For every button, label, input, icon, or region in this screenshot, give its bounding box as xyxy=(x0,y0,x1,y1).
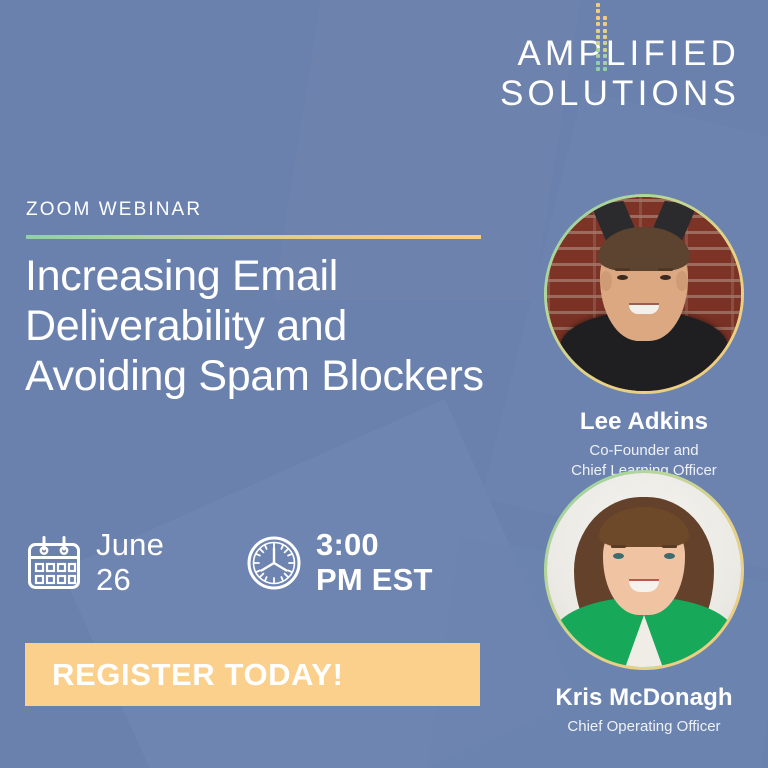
calendar-icon xyxy=(26,535,82,591)
event-time: 3:00 PM EST xyxy=(246,528,433,597)
event-time-zone: PM EST xyxy=(316,562,433,597)
logo-bars-icon xyxy=(596,17,618,71)
avatar-ring xyxy=(544,470,744,670)
avatar-ring xyxy=(544,194,744,394)
speaker-name: Kris McDonagh xyxy=(524,684,764,712)
logo-dot xyxy=(603,16,607,20)
logo-dot xyxy=(596,35,600,39)
logo-dot xyxy=(596,16,600,20)
event-date-month: June xyxy=(96,527,164,562)
avatar xyxy=(547,473,741,667)
logo-dot xyxy=(603,54,607,58)
page-title: Increasing Email Deliverability and Avoi… xyxy=(25,252,495,402)
event-time-text: 3:00 PM EST xyxy=(316,528,433,597)
clock-icon xyxy=(246,535,302,591)
speaker-title-line-1: Chief Operating Officer xyxy=(567,718,720,735)
kicker-label: ZOOM WEBINAR xyxy=(26,199,202,221)
gradient-divider xyxy=(26,235,481,239)
webinar-promo-poster: AMPLIFIED SOLUTIONS ZOOM WEBINAR Increas… xyxy=(0,0,768,768)
speaker-name: Lee Adkins xyxy=(524,408,764,436)
event-details-row: June 26 xyxy=(26,528,433,597)
logo-dot xyxy=(603,29,607,33)
logo-dot xyxy=(596,41,600,45)
logo-dot xyxy=(596,61,600,65)
logo-dot xyxy=(603,48,607,52)
logo-dot xyxy=(596,3,600,7)
logo-dot xyxy=(603,35,607,39)
amplified-solutions-logo: AMPLIFIED SOLUTIONS xyxy=(500,36,740,111)
event-time-value: 3:00 xyxy=(316,527,379,562)
logo-dot xyxy=(603,41,607,45)
register-today-button[interactable]: REGISTER TODAY! xyxy=(25,643,480,706)
logo-dot xyxy=(603,22,607,26)
speaker-card: Kris McDonagh Chief Operating Officer xyxy=(524,470,764,737)
logo-dot xyxy=(603,61,607,65)
logo-dot xyxy=(596,54,600,58)
logo-dot xyxy=(596,29,600,33)
speaker-title-line-1: Co-Founder and xyxy=(589,442,698,459)
logo-line-solutions: SOLUTIONS xyxy=(500,76,740,111)
logo-dot xyxy=(596,9,600,13)
logo-dot xyxy=(603,67,607,71)
kris-mcdonagh-headshot xyxy=(547,473,741,667)
logo-dot xyxy=(596,22,600,26)
avatar xyxy=(547,197,741,391)
register-today-label: REGISTER TODAY! xyxy=(52,657,344,693)
speaker-card: Lee Adkins Co-Founder and Chief Learning… xyxy=(524,194,764,482)
lee-adkins-headshot xyxy=(547,197,741,391)
speaker-title: Chief Operating Officer xyxy=(524,717,764,737)
event-date-day: 26 xyxy=(96,562,131,597)
logo-dot xyxy=(596,67,600,71)
event-date-text: June 26 xyxy=(96,528,164,597)
event-date: June 26 xyxy=(26,528,164,597)
logo-dot xyxy=(596,48,600,52)
logo-line-amplified: AMPLIFIED xyxy=(500,36,740,71)
